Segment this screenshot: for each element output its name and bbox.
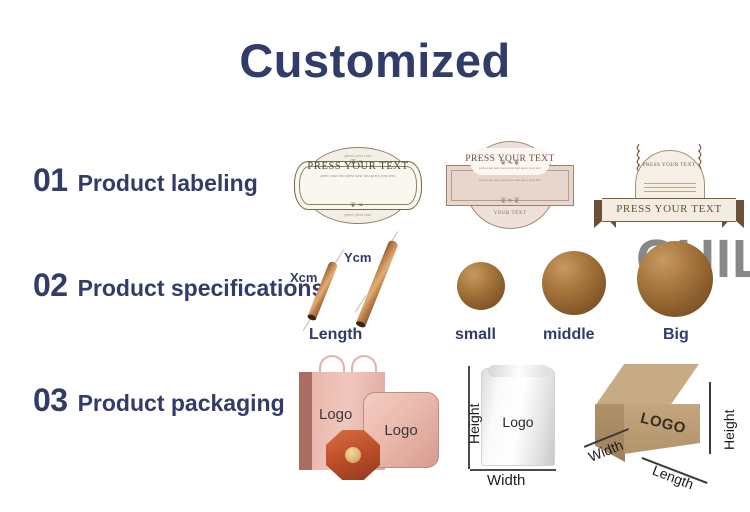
sphere-big <box>637 241 713 317</box>
gift-bag-side-panel <box>299 372 312 470</box>
label-2-bottom-text: YOUR TEXT <box>446 211 574 216</box>
label-1-bottom-text: press your text <box>292 213 424 217</box>
label-3-text-lines <box>644 180 696 195</box>
sphere-small <box>457 262 505 310</box>
label-3-arch-text: PRESS YOUR TEXT <box>594 162 744 168</box>
row-number-02: 02 <box>33 267 68 304</box>
carton-length-label: Length <box>650 462 696 492</box>
carton-width-label: Width <box>586 437 625 465</box>
gift-bag-logo: Logo <box>319 406 352 423</box>
sack-width-label: Width <box>487 472 525 489</box>
label-3-ribbon-text: PRESS YOUR TEXT <box>594 203 744 215</box>
carton-box-packaging: LOGO Height Length Width <box>578 358 748 486</box>
stick-y-label: Ycm <box>344 250 371 265</box>
row-label-01: Product labeling <box>78 170 258 197</box>
label-1-main-text: PRESS YOUR TEXT <box>292 161 424 172</box>
product-label-sample-3: ❬❬❬ ❬❬❬ ❬❬ ❭❭❭ ❭❭❭ ❭❭ PRESS YOUR TEXT PR… <box>594 140 744 232</box>
sack-height-label: Height <box>466 404 482 444</box>
carton-height-line <box>709 382 711 454</box>
sphere-big-label: Big <box>663 326 689 344</box>
label-2-main-text: PRESS YOUR TEXT <box>446 154 574 164</box>
carton-height-label: Height <box>721 410 737 450</box>
row-number-01: 01 <box>33 162 68 199</box>
sphere-middle-label: middle <box>543 326 595 344</box>
row-heading-03: 03 Product packaging <box>33 382 285 419</box>
product-label-sample-2: YOUR TEXT ❦❧❦ PRESS YOUR TEXT press your… <box>446 141 574 229</box>
page-title: Customized <box>0 33 750 88</box>
row-heading-02: 02 Product specifications <box>33 267 324 304</box>
product-label-sample-1: press your text ❦❧ PRESS YOUR TEXT press… <box>292 143 424 228</box>
octagonal-box <box>326 430 380 480</box>
gift-tin-logo: Logo <box>364 422 438 439</box>
row-number-03: 03 <box>33 382 68 419</box>
woven-sack: Logo <box>481 368 555 466</box>
carton-top-face <box>595 364 699 406</box>
sphere-middle <box>542 251 606 315</box>
label-2-sub-text: press your text press your text press yo… <box>446 166 574 170</box>
length-caption: Length <box>309 326 362 344</box>
row-heading-01: 01 Product labeling <box>33 162 258 199</box>
row-label-03: Product packaging <box>78 390 285 417</box>
sphere-small-label: small <box>455 326 496 344</box>
sack-width-line <box>470 469 556 471</box>
sack-top-seam <box>488 365 550 377</box>
customized-infographic: Customized CHILLI 01 Product labeling 02… <box>0 0 750 512</box>
woven-sack-packaging: Logo Height Width <box>452 360 572 485</box>
stick-x-label: Xcm <box>290 270 317 285</box>
sack-logo: Logo <box>482 414 554 430</box>
label-1-sub-text: press your text press your text press yo… <box>292 174 424 178</box>
label-1-ornament-bottom: ❦❧ <box>292 201 424 209</box>
gift-packaging-set: Logo Logo <box>295 362 445 480</box>
octagonal-box-seal-icon <box>345 447 361 463</box>
label-2-ornament-bottom: ❦❧❦ <box>446 196 574 205</box>
length-sample-sticks: Xcm Ycm <box>288 232 428 340</box>
label-2-sub-text-2: press your text press your text press yo… <box>446 178 574 182</box>
